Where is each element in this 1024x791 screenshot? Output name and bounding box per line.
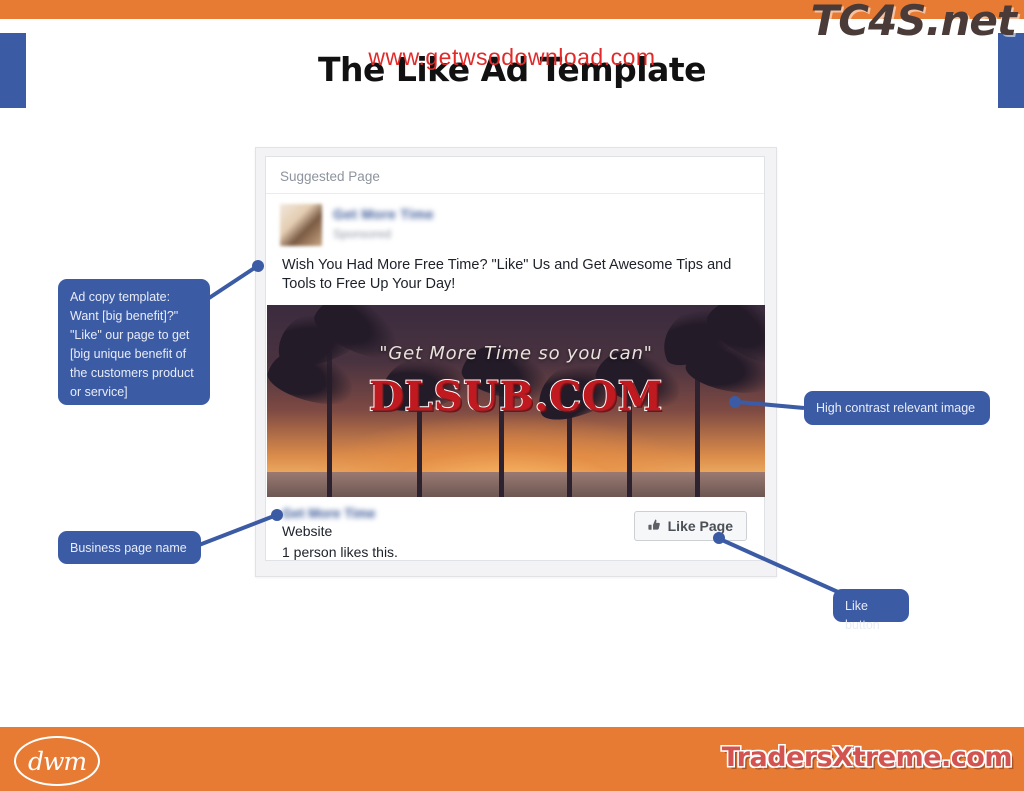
callout-ad-copy-template: Ad copy template: Want [big benefit]?" "… [58, 279, 210, 405]
page-title: The Like Ad Template [0, 50, 1024, 89]
ad-poster-row: Get More Time Sponsored [266, 194, 764, 250]
hero-watermark: DLSUB.COM [267, 373, 765, 420]
hero-headline-text: "Get More Time so you can" [267, 343, 765, 364]
page-avatar [280, 204, 322, 246]
facebook-ad-card: Suggested Page Get More Time Sponsored W… [265, 156, 765, 561]
ad-preview-frame: Suggested Page Get More Time Sponsored W… [255, 147, 777, 577]
footer-like-count: 1 person likes this. [282, 543, 750, 562]
ad-copy-text: Wish You Had More Free Time? "Like" Us a… [266, 250, 764, 305]
callout-like-button: Like button [833, 589, 909, 622]
slide-canvas: TC4S.net The Like Ad Template www.getwso… [0, 0, 1024, 791]
poster-meta: Get More Time Sponsored [333, 204, 434, 241]
sea-strip [267, 472, 765, 497]
like-page-button[interactable]: Like Page [634, 511, 747, 541]
callout-business-page-name: Business page name [58, 531, 201, 564]
callout-high-contrast-image: High contrast relevant image [804, 391, 990, 425]
tradersxtreme-logo: TradersXtreme.com [722, 742, 1012, 773]
suggested-page-label: Suggested Page [266, 157, 764, 194]
page-name-link[interactable]: Get More Time [333, 206, 434, 222]
thumbs-up-icon [648, 519, 661, 532]
ad-hero-image: "Get More Time so you can" DLSUB.COM [267, 305, 765, 497]
sponsored-label: Sponsored [333, 227, 434, 241]
dwm-logo-text: dwm [28, 747, 86, 776]
dwm-logo: dwm [14, 736, 100, 786]
tc4s-logo: TC4S.net [811, 0, 1016, 45]
ad-footer: Get More Time Website 1 person likes thi… [266, 497, 764, 555]
like-page-label: Like Page [668, 518, 733, 534]
